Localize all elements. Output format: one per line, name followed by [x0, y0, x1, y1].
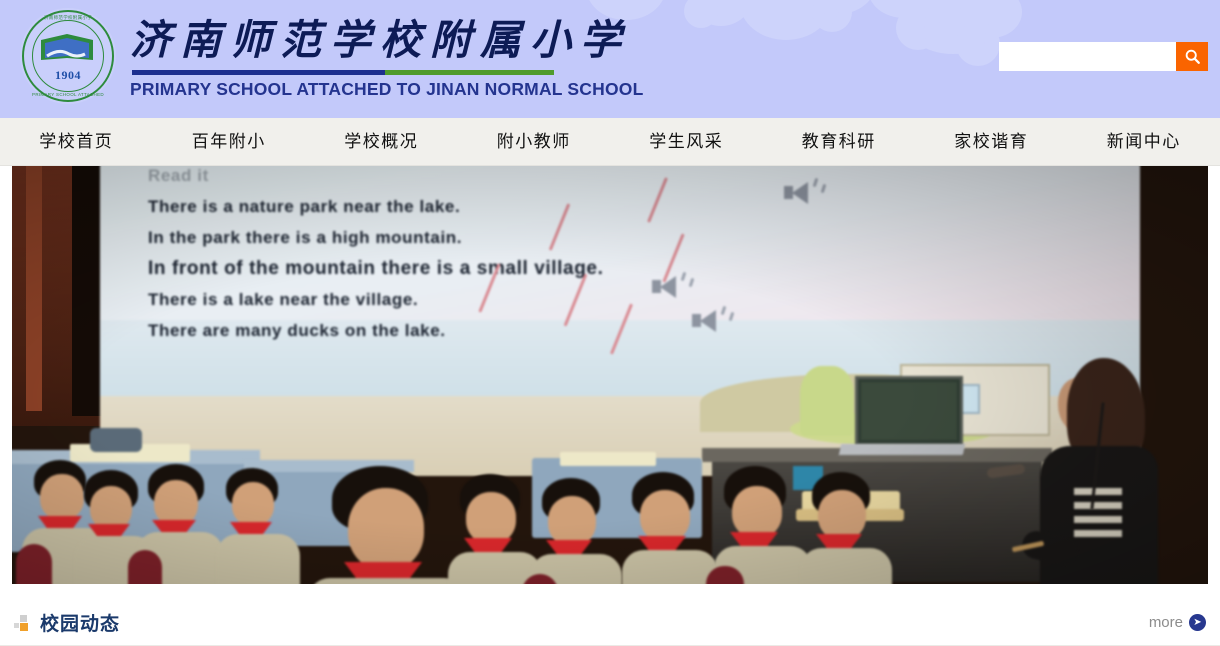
student-head [732, 486, 782, 538]
swirl-decoration [968, 32, 992, 56]
teacher-sleeve-stripe [1074, 488, 1122, 495]
nav-item-teachers[interactable]: 附小教师 [458, 118, 611, 166]
student-head [640, 490, 690, 542]
student-figure [802, 472, 906, 584]
swirl-decoration [824, 2, 846, 24]
nav-item-research[interactable]: 教育科研 [763, 118, 916, 166]
nav-item-home[interactable]: 学校首页 [0, 118, 153, 166]
section-title: 校园动态 [40, 609, 120, 636]
student-uniform [622, 550, 718, 584]
nav-item-students[interactable]: 学生风采 [610, 118, 763, 166]
speaker-icon-body [652, 280, 661, 293]
teacher-sleeve-stripe [1074, 516, 1122, 523]
student-head [466, 492, 516, 544]
speaker-icon [792, 182, 808, 204]
nav-item-news[interactable]: 新闻中心 [1068, 118, 1220, 166]
speaker-icon-body [784, 186, 793, 199]
site-title-cn: 济南师范学校附属小学 [130, 16, 643, 64]
student-head [348, 488, 424, 570]
student-uniform [800, 548, 892, 584]
student-sleeve [16, 544, 52, 584]
student-uniform [308, 578, 466, 584]
title-rule [132, 70, 554, 75]
projected-line: There is a lake near the village. [148, 284, 1028, 315]
seal-year: 1904 [20, 68, 116, 83]
laptop-screen [861, 382, 957, 440]
teacher-sleeve-stripe [1074, 530, 1122, 537]
projected-line: In the park there is a high mountain. [148, 222, 1028, 253]
student-head [818, 490, 866, 540]
student-head [90, 486, 132, 530]
main-navigation: 学校首页 百年附小 学校概况 附小教师 学生风采 教育科研 家校谐育 新闻中心 [0, 118, 1220, 166]
search-input[interactable] [999, 42, 1176, 71]
teacher-sleeve-stripe [1074, 502, 1122, 509]
banner-slide[interactable]: Read it There is a nature park near the … [12, 166, 1208, 584]
projected-line: There is a nature park near the lake. [148, 191, 1028, 222]
projected-line: There are many ducks on the lake. [148, 315, 1028, 346]
speaker-icon [660, 276, 676, 298]
search-icon [1184, 48, 1201, 65]
campus-news-section-header: 校园动态 more ➤ [0, 600, 1220, 646]
desk-paper [560, 452, 656, 466]
wall-strip [26, 166, 42, 411]
rule-blue-segment [132, 70, 385, 75]
square-gray-left [14, 623, 19, 628]
seal-arc-bottom-text: PRIMARY SCHOOL ATTACHED [20, 92, 116, 97]
squares-icon [14, 615, 32, 631]
student-sleeve [128, 550, 162, 584]
student-figure [216, 468, 312, 584]
seal-arc-top-text: 济南师范学校附属小学 [20, 15, 116, 21]
nav-item-family[interactable]: 家校谐育 [915, 118, 1068, 166]
pencil-case [90, 428, 142, 452]
speaker-icon-body [692, 314, 701, 327]
rule-green-segment [385, 70, 554, 75]
more-label: more [1149, 614, 1183, 631]
square-gray-top [20, 615, 27, 622]
logo-titles: 济南师范学校附属小学 PRIMARY SCHOOL ATTACHED TO JI… [130, 12, 643, 100]
more-link[interactable]: more ➤ [1149, 614, 1206, 631]
student-uniform [216, 534, 300, 584]
school-seal-emblem-icon: 济南师范学校附属小学 1904 PRIMARY SCHOOL ATTACHED [20, 8, 116, 104]
seal-book-icon [37, 30, 99, 72]
student-figure [532, 478, 636, 584]
site-logo[interactable]: 济南师范学校附属小学 1904 PRIMARY SCHOOL ATTACHED … [20, 8, 643, 104]
projected-text: Read it There is a nature park near the … [148, 166, 1028, 346]
student-head [154, 480, 198, 526]
nav-item-overview[interactable]: 学校概况 [305, 118, 458, 166]
swirl-decoration [908, 16, 932, 40]
chevron-right-circle-icon: ➤ [1189, 614, 1206, 631]
banner-area: Read it There is a nature park near the … [0, 166, 1220, 600]
projected-line: Read it [148, 166, 1028, 191]
site-title-en: PRIMARY SCHOOL ATTACHED TO JINAN NORMAL … [130, 79, 643, 100]
speaker-icon [700, 310, 716, 332]
student-head [548, 496, 596, 546]
projected-line: In front of the mountain there is a smal… [148, 253, 1028, 284]
student-head [232, 482, 274, 526]
search-button[interactable] [1176, 42, 1208, 71]
square-orange [20, 623, 28, 631]
site-header: 济南师范学校附属小学 1904 PRIMARY SCHOOL ATTACHED … [0, 0, 1220, 118]
english-class-photo: Read it There is a nature park near the … [12, 166, 1208, 584]
slide-tree [800, 366, 854, 436]
laptop-keyboard [839, 444, 965, 455]
search-box[interactable] [999, 42, 1208, 71]
projection-screen: Read it There is a nature park near the … [100, 166, 1140, 476]
nav-item-history[interactable]: 百年附小 [153, 118, 306, 166]
